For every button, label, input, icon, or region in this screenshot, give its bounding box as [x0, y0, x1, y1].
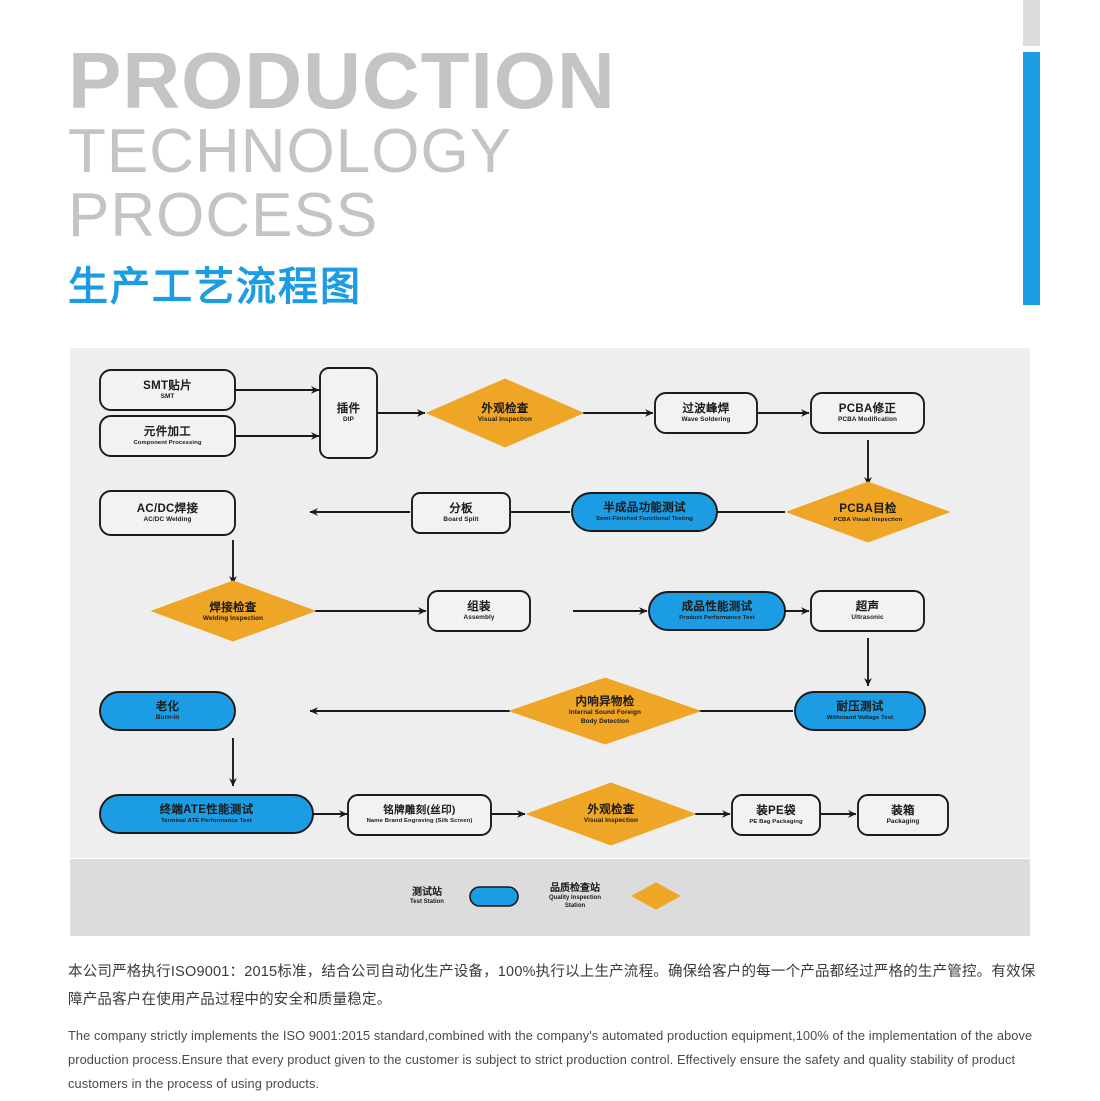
node-label-en: Welding Inspection — [203, 616, 263, 623]
title-line-production: PRODUCTION — [68, 42, 616, 120]
title-line-technology: TECHNOLOGY — [68, 120, 616, 184]
node-label-en: Wave Soldering — [681, 417, 730, 424]
node-pe-bag-packaging[interactable]: 装PE袋 PE Bag Packaging — [732, 795, 820, 835]
node-label-en: Assembly — [464, 615, 495, 622]
legend-swatch-stadium — [470, 887, 518, 906]
node-label-cn: 焊接检查 — [209, 602, 256, 614]
node-label-en: SMT — [161, 394, 175, 401]
node-pcba-visual-inspection[interactable]: PCBA目检 PCBA Visual Inspection — [787, 482, 949, 542]
node-carton-packaging[interactable]: 装箱 Packaging — [858, 795, 948, 835]
legend-items: 测试站 Test Station 品质检查站 Quality Inspectio… — [386, 874, 680, 918]
legend-label-en-line1: Quality Inspection — [549, 895, 601, 902]
node-label-cn: 装箱 — [891, 805, 915, 817]
node-label-cn: 外观检查 — [587, 804, 634, 816]
node-smt[interactable]: SMT贴片 SMT — [100, 370, 235, 410]
accent-bar-blue — [1023, 52, 1040, 305]
node-label-cn: PCBA目检 — [839, 503, 896, 515]
node-label-cn: 内响异物检 — [576, 696, 635, 708]
node-label-cn: 过波峰焊 — [682, 403, 729, 415]
footer-text: 本公司严格执行ISO9001：2015标准，结合公司自动化生产设备，100%执行… — [68, 958, 1040, 1096]
node-label-cn: 分板 — [449, 503, 473, 515]
legend-swatch-diamond — [632, 883, 680, 909]
node-assembly[interactable]: 组装 Assembly — [428, 591, 530, 631]
node-label-en: DIP — [343, 417, 354, 424]
node-acdc-welding[interactable]: AC/DC焊接 AC/DC Welding — [100, 491, 235, 535]
node-dip[interactable]: 插件 DIP — [320, 368, 377, 458]
node-product-performance-test[interactable]: 成品性能测试 Product Performance Test — [649, 592, 785, 630]
legend-label-en-line2: Station — [565, 903, 585, 910]
flowchart-svg: SMT贴片 SMT 元件加工 Component Processing 插件 D… — [70, 348, 1030, 936]
node-component-processing[interactable]: 元件加工 Component Processing — [100, 416, 235, 456]
node-label-en: Product Performance Test — [679, 615, 755, 621]
node-label-cn: 元件加工 — [144, 426, 191, 438]
node-board-split[interactable]: 分板 Board Split — [412, 493, 510, 533]
node-label-en: Terminal ATE Performance Test — [161, 818, 252, 824]
node-label-en: Board Split — [443, 517, 478, 524]
node-label-en: Ultrasonic — [851, 615, 883, 622]
node-label-cn: 半成品功能测试 — [603, 502, 686, 514]
node-label-en: Visual Inspection — [478, 417, 532, 424]
node-wave-soldering[interactable]: 过波峰焊 Wave Soldering — [655, 393, 757, 433]
node-label-en: AC/DC Welding — [143, 517, 191, 524]
node-terminal-ate-performance-test[interactable]: 终端ATE性能测试 Terminal ATE Performance Test — [100, 795, 313, 833]
node-withstand-voltage-test[interactable]: 耐压测试 Withstand Voltage Test — [795, 692, 925, 730]
node-visual-inspection-2[interactable]: 外观检查 Visual Inspection — [527, 783, 695, 845]
node-label-en: Semi-Finished Functional Testing — [596, 516, 693, 522]
node-label-en: Withstand Voltage Test — [827, 715, 893, 721]
node-label-en: Component Processing — [133, 440, 201, 446]
node-ultrasonic[interactable]: 超声 Ultrasonic — [811, 591, 924, 631]
node-label-cn: SMT贴片 — [143, 380, 192, 392]
node-label-cn: 外观检查 — [481, 403, 528, 415]
node-pcba-modification[interactable]: PCBA修正 PCBA Modification — [811, 393, 924, 433]
node-label-en: PCBA Modification — [838, 417, 897, 424]
node-label-en: Burn-in — [156, 715, 179, 722]
node-welding-inspection[interactable]: 焊接检查 Welding Inspection — [152, 581, 315, 641]
node-label-cn: AC/DC焊接 — [137, 503, 199, 515]
node-label-cn: 老化 — [156, 701, 180, 713]
node-label-cn: 装PE袋 — [756, 805, 796, 817]
page-header: PRODUCTION TECHNOLOGY PROCESS 生产工艺流程图 — [68, 42, 616, 310]
node-label-cn: 组装 — [467, 601, 491, 613]
flow-nodes: SMT贴片 SMT 元件加工 Component Processing 插件 D… — [100, 368, 949, 845]
node-label-cn: 耐压测试 — [836, 701, 883, 713]
legend-item-test-station: 测试站 Test Station — [386, 879, 518, 913]
node-burn-in[interactable]: 老化 Burn-in — [100, 692, 235, 730]
node-visual-inspection-1[interactable]: 外观检查 Visual Inspection — [427, 379, 583, 447]
node-label-cn: 成品性能测试 — [682, 601, 753, 613]
node-name-brand-engraving[interactable]: 铭牌雕刻(丝印) Name Brand Engraving (Silk Scre… — [348, 795, 491, 835]
node-label-cn: 终端ATE性能测试 — [160, 804, 254, 816]
node-label-cn: PCBA修正 — [839, 403, 896, 415]
title-line-process: PROCESS — [68, 184, 616, 248]
node-label-en: Visual Inspection — [584, 818, 638, 825]
legend-item-quality-inspection-station: 品质检查站 Quality Inspection Station — [520, 874, 680, 918]
node-semi-finished-functional-testing[interactable]: 半成品功能测试 Semi-Finished Functional Testing — [572, 493, 717, 531]
node-label-cn: 超声 — [856, 601, 880, 613]
node-label-en: Name Brand Engraving (Silk Screen) — [367, 818, 473, 824]
node-label-en-line1: Internal Sound Foreign — [569, 710, 641, 717]
node-label-en: Packaging — [887, 819, 920, 826]
node-internal-sound-foreign-body-detection[interactable]: 内响异物检 Internal Sound Foreign Body Detect… — [510, 678, 700, 744]
legend-label-en: Test Station — [410, 899, 444, 906]
legend-label-cn: 测试站 — [412, 887, 442, 898]
accent-bar-gray — [1023, 0, 1040, 46]
page-subtitle-chinese: 生产工艺流程图 — [68, 264, 616, 310]
node-label-en: PCBA Visual Inspection — [834, 517, 903, 523]
node-label-en: PE Bag Packaging — [749, 819, 802, 825]
node-label-cn: 铭牌雕刻(丝印) — [383, 805, 455, 816]
footer-paragraph-chinese: 本公司严格执行ISO9001：2015标准，结合公司自动化生产设备，100%执行… — [68, 958, 1040, 1014]
legend-label-cn: 品质检查站 — [550, 883, 600, 894]
node-label-en-line2: Body Detection — [581, 719, 629, 726]
footer-paragraph-english: The company strictly implements the ISO … — [68, 1024, 1040, 1096]
node-label-cn: 插件 — [337, 403, 361, 415]
